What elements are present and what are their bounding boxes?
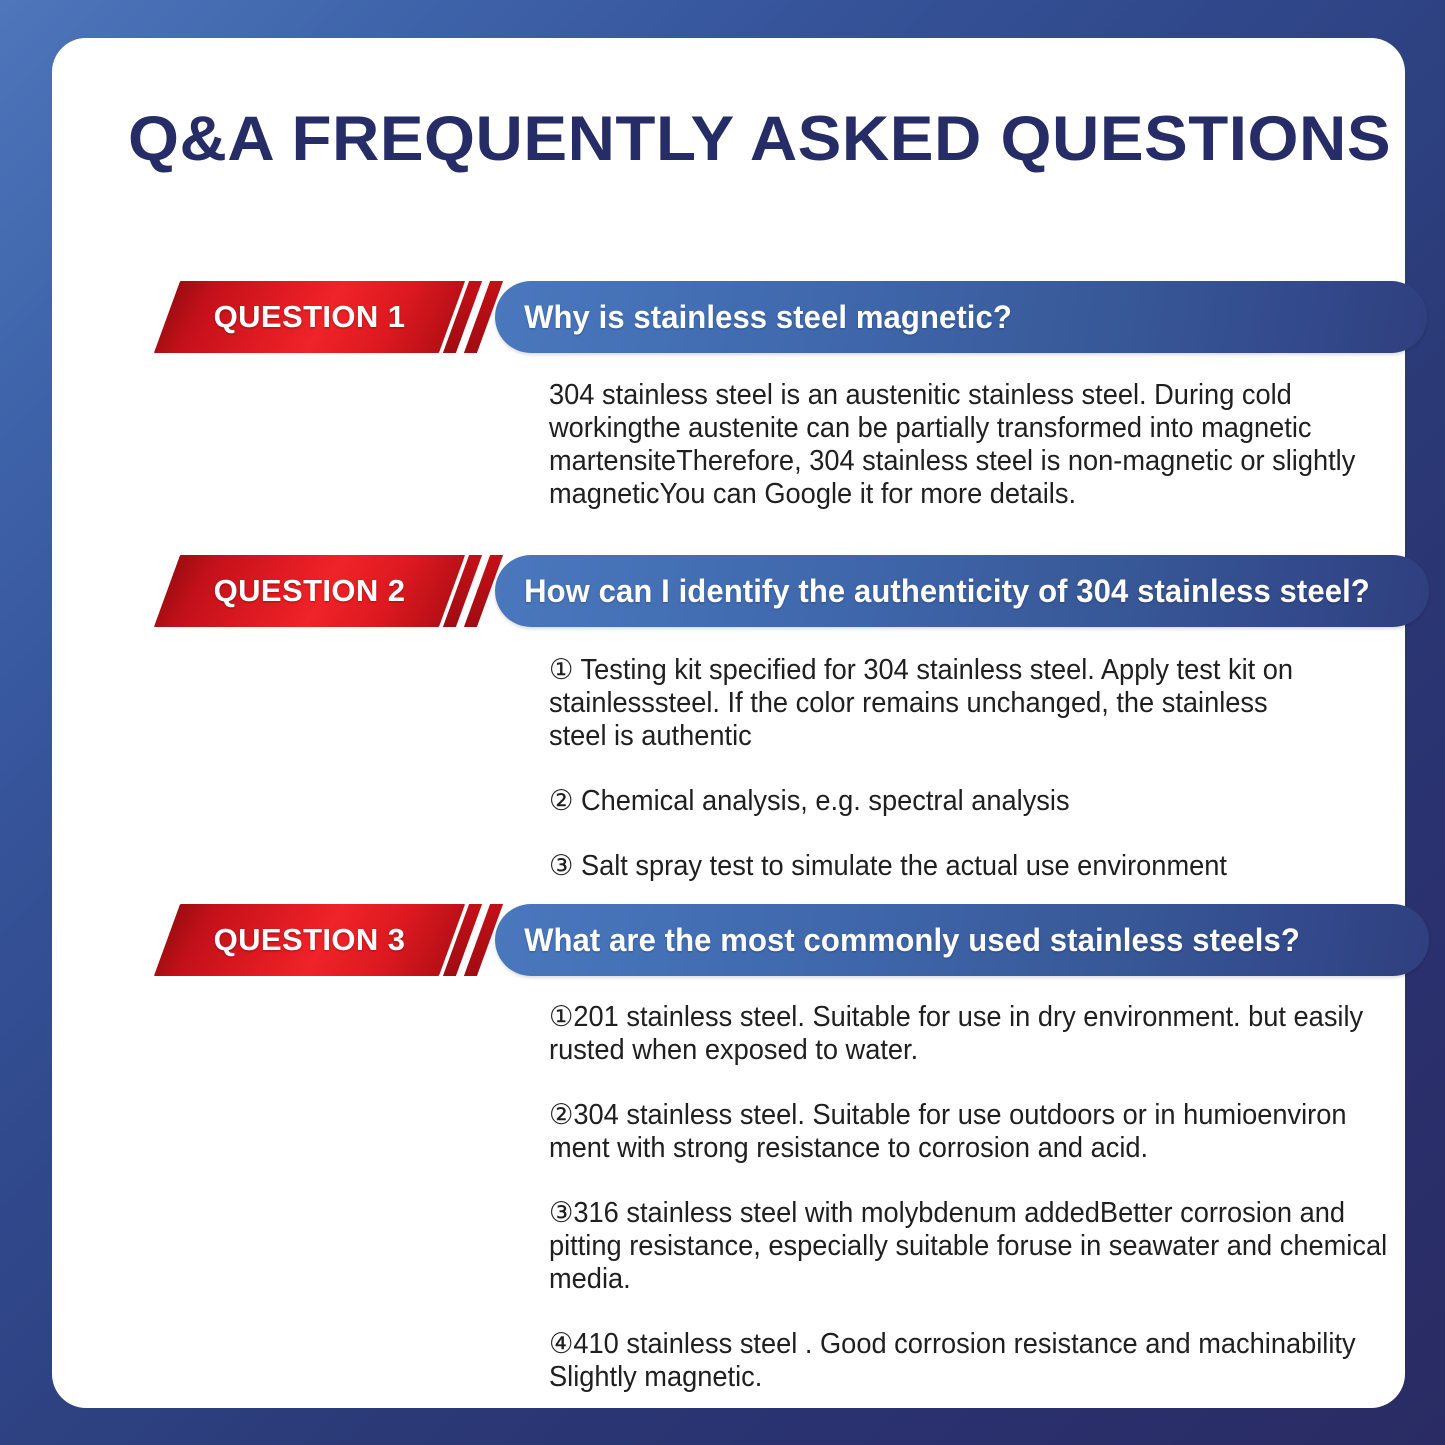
answer-paragraph: ③ Salt spray test to simulate the actual… [549,850,1313,883]
answer-paragraph: ② Chemical analysis, e.g. spectral analy… [549,785,1313,818]
question-tag-label-3: QUESTION 3 [167,904,452,976]
faq-card: Q&A FREQUENTLY ASKED QUESTIONS QUESTION … [52,38,1405,1408]
answer-paragraph: ③316 stainless steel with molybdenum add… [549,1197,1394,1296]
page-title: Q&A FREQUENTLY ASKED QUESTIONS [128,103,1376,175]
question-banner-3[interactable]: What are the most commonly used stainles… [495,904,1429,976]
question-tag-3[interactable]: QUESTION 3 [154,904,465,976]
answer-3: ①201 stainless steel. Suitable for use i… [549,1001,1394,1394]
question-tag-label-2: QUESTION 2 [167,555,452,627]
question-text-3: What are the most commonly used stainles… [495,922,1300,959]
answer-paragraph: ④410 stainless steel . Good corrosion re… [549,1328,1394,1394]
answer-paragraph: ①201 stainless steel. Suitable for use i… [549,1001,1394,1067]
answer-paragraph: ① Testing kit specified for 304 stainles… [549,654,1313,753]
answer-paragraph: 304 stainless steel is an austenitic sta… [549,379,1389,511]
answer-2: ① Testing kit specified for 304 stainles… [549,654,1313,883]
question-text-1: Why is stainless steel magnetic? [495,299,1012,336]
answer-paragraph: ②304 stainless steel. Suitable for use o… [549,1099,1394,1165]
question-text-2: How can I identify the authenticity of 3… [495,573,1370,610]
question-banner-1[interactable]: Why is stainless steel magnetic? [495,281,1427,353]
question-tag-1[interactable]: QUESTION 1 [154,281,465,353]
answer-1: 304 stainless steel is an austenitic sta… [549,379,1389,511]
question-tag-2[interactable]: QUESTION 2 [154,555,465,627]
question-tag-label-1: QUESTION 1 [167,281,452,353]
question-banner-2[interactable]: How can I identify the authenticity of 3… [495,555,1429,627]
